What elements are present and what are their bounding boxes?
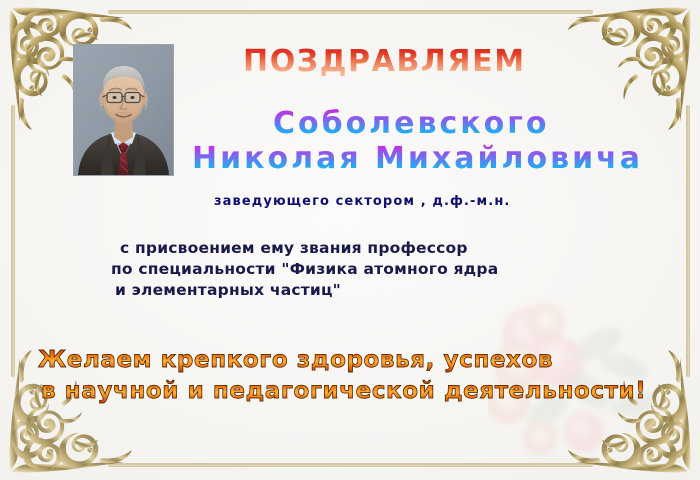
filigree-corner-ornament-top-right xyxy=(564,2,696,134)
rose-flower-watermark xyxy=(488,292,673,462)
wish-line-2: в научной и педагогической деятельности! xyxy=(41,376,646,407)
page-title: ПОЗДРАВЛЯЕМ xyxy=(243,44,526,79)
citation-line-2: по специальности "Физика атомного ядра xyxy=(111,259,498,280)
filigree-corner-ornament-bottom-left xyxy=(4,346,136,478)
frame-line-right xyxy=(686,105,690,377)
frame-line-bottom xyxy=(108,463,593,467)
greeting-card: ПОЗДРАВЛЯЕМ Соболевского Николая Михайло… xyxy=(0,0,700,480)
wish-text: Желаем крепкого здоровья, успехов в науч… xyxy=(38,345,646,407)
portrait-photo xyxy=(74,45,173,175)
frame-line-top xyxy=(108,10,593,14)
citation-line-3: и элементарных частиц" xyxy=(115,280,498,301)
honoree-position-line: заведующего сектором , д.ф.-м.н. xyxy=(214,194,510,209)
frame-line-left xyxy=(11,105,15,377)
wish-line-1: Желаем крепкого здоровья, успехов xyxy=(38,345,646,376)
citation-text: с присвоением ему звания профессор по сп… xyxy=(120,238,498,301)
honoree-name-line-2: Николая Михайловича xyxy=(192,141,643,176)
filigree-corner-ornament-bottom-right xyxy=(564,346,696,478)
citation-line-1: с присвоением ему звания профессор xyxy=(120,238,498,259)
honoree-name-line-1: Соболевского xyxy=(273,106,550,141)
